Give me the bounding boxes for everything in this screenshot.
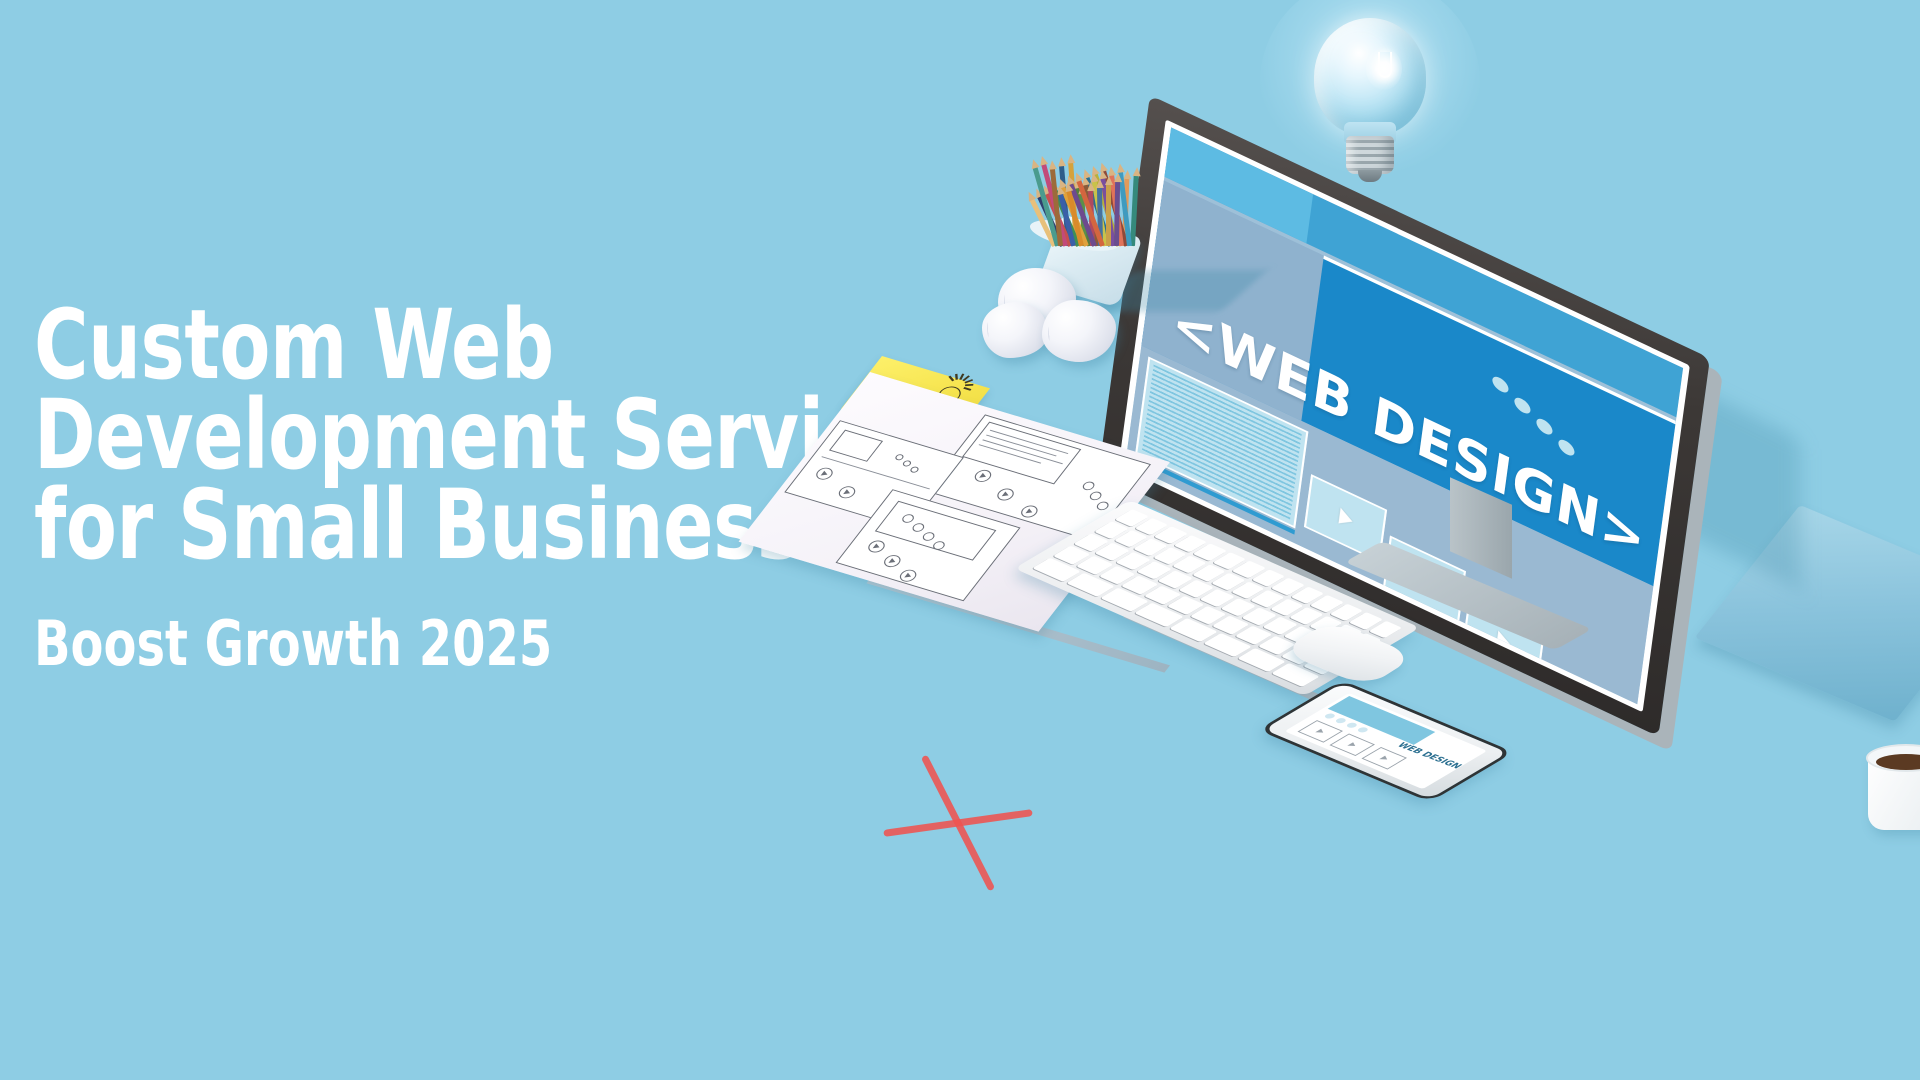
phone-video-tile bbox=[1297, 720, 1343, 743]
crumpled-paper-ball bbox=[1042, 300, 1116, 362]
phone-video-tile bbox=[1361, 747, 1407, 770]
pencil bbox=[1106, 184, 1111, 246]
web-design-promo-banner: Custom Web Development Services for Smal… bbox=[0, 0, 1920, 1080]
smartphone-screen: WEB DESIGN bbox=[1285, 693, 1488, 789]
desktop-monitor: <WEB DESIGN> bbox=[1150, 95, 1850, 565]
isometric-desk-scene: <WEB DESIGN> bbox=[860, 0, 1920, 1080]
crumpled-paper-ball bbox=[982, 302, 1048, 358]
colored-pencils bbox=[1046, 150, 1146, 246]
pencil bbox=[1130, 175, 1139, 246]
red-x-mark bbox=[894, 764, 1022, 882]
dot-icon bbox=[1323, 712, 1337, 719]
dot-icon bbox=[1356, 726, 1370, 733]
coffee-liquid bbox=[1876, 754, 1920, 770]
page-subtitle: Boost Growth 2025 bbox=[34, 613, 997, 675]
red-x-stroke bbox=[921, 755, 995, 892]
phone-video-tile bbox=[1329, 734, 1375, 757]
coffee-cup bbox=[1868, 742, 1920, 852]
keyboard bbox=[1130, 500, 1500, 710]
smartphone: WEB DESIGN bbox=[1342, 680, 1552, 840]
dot-icon bbox=[1334, 717, 1348, 724]
dot-icon bbox=[1345, 722, 1359, 729]
red-x-stroke bbox=[883, 809, 1033, 837]
bulb-filament-wire bbox=[1378, 52, 1392, 78]
